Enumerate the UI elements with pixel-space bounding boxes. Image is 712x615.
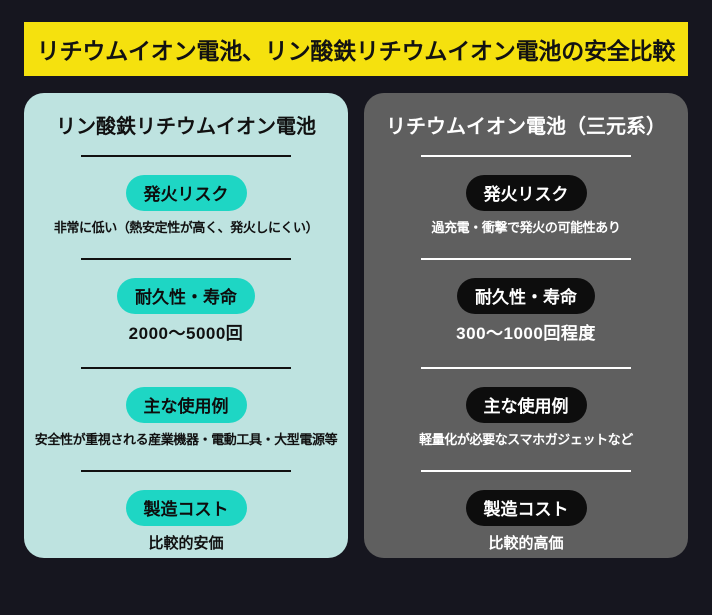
card-lifepo4: リン酸鉄リチウムイオン電池 発火リスク 非常に低い（熱安定性が高く、発火しにくい…: [24, 93, 348, 558]
card-left-section-fire-risk: 発火リスク 非常に低い（熱安定性が高く、発火しにくい）: [36, 157, 336, 236]
page-title: リチウムイオン電池、リン酸鉄リチウムイオン電池の安全比較: [37, 32, 675, 66]
value-durability: 2000〜5000回: [129, 323, 244, 344]
card-left-section-durability: 耐久性・寿命 2000〜5000回: [36, 260, 336, 344]
comparison-cards: リン酸鉄リチウムイオン電池 発火リスク 非常に低い（熱安定性が高く、発火しにくい…: [24, 93, 688, 558]
badge-durability: 耐久性・寿命: [457, 278, 595, 314]
card-left-title: リン酸鉄リチウムイオン電池: [56, 115, 316, 139]
value-cost: 比較的高価: [488, 535, 563, 554]
value-usage: 安全性が重視される産業機器・電動工具・大型電源等: [35, 432, 337, 448]
badge-cost: 製造コスト: [466, 490, 587, 526]
value-cost: 比較的安価: [148, 535, 223, 554]
badge-fire-risk: 発火リスク: [466, 175, 587, 211]
card-right-section-cost: 製造コスト 比較的高価: [376, 472, 676, 554]
card-right-section-usage: 主な使用例 軽量化が必要なスマホガジェットなど: [376, 369, 676, 448]
title-banner: リチウムイオン電池、リン酸鉄リチウムイオン電池の安全比較: [24, 22, 688, 76]
value-durability: 300〜1000回程度: [456, 323, 596, 344]
value-fire-risk: 過充電・衝撃で発火の可能性あり: [431, 220, 620, 236]
value-usage: 軽量化が必要なスマホガジェットなど: [419, 432, 633, 448]
card-right-section-durability: 耐久性・寿命 300〜1000回程度: [376, 260, 676, 344]
infographic-root: リチウムイオン電池、リン酸鉄リチウムイオン電池の安全比較 リン酸鉄リチウムイオン…: [0, 0, 712, 615]
badge-usage: 主な使用例: [126, 387, 247, 423]
card-right-title: リチウムイオン電池（三元系）: [386, 115, 666, 139]
badge-durability: 耐久性・寿命: [117, 278, 255, 314]
value-fire-risk: 非常に低い（熱安定性が高く、発火しにくい）: [54, 220, 318, 236]
badge-cost: 製造コスト: [126, 490, 247, 526]
card-left-section-usage: 主な使用例 安全性が重視される産業機器・電動工具・大型電源等: [36, 369, 336, 448]
badge-usage: 主な使用例: [466, 387, 587, 423]
card-right-section-fire-risk: 発火リスク 過充電・衝撃で発火の可能性あり: [376, 157, 676, 236]
card-ternary-liion: リチウムイオン電池（三元系） 発火リスク 過充電・衝撃で発火の可能性あり 耐久性…: [364, 93, 688, 558]
badge-fire-risk: 発火リスク: [126, 175, 247, 211]
card-left-section-cost: 製造コスト 比較的安価: [36, 472, 336, 554]
